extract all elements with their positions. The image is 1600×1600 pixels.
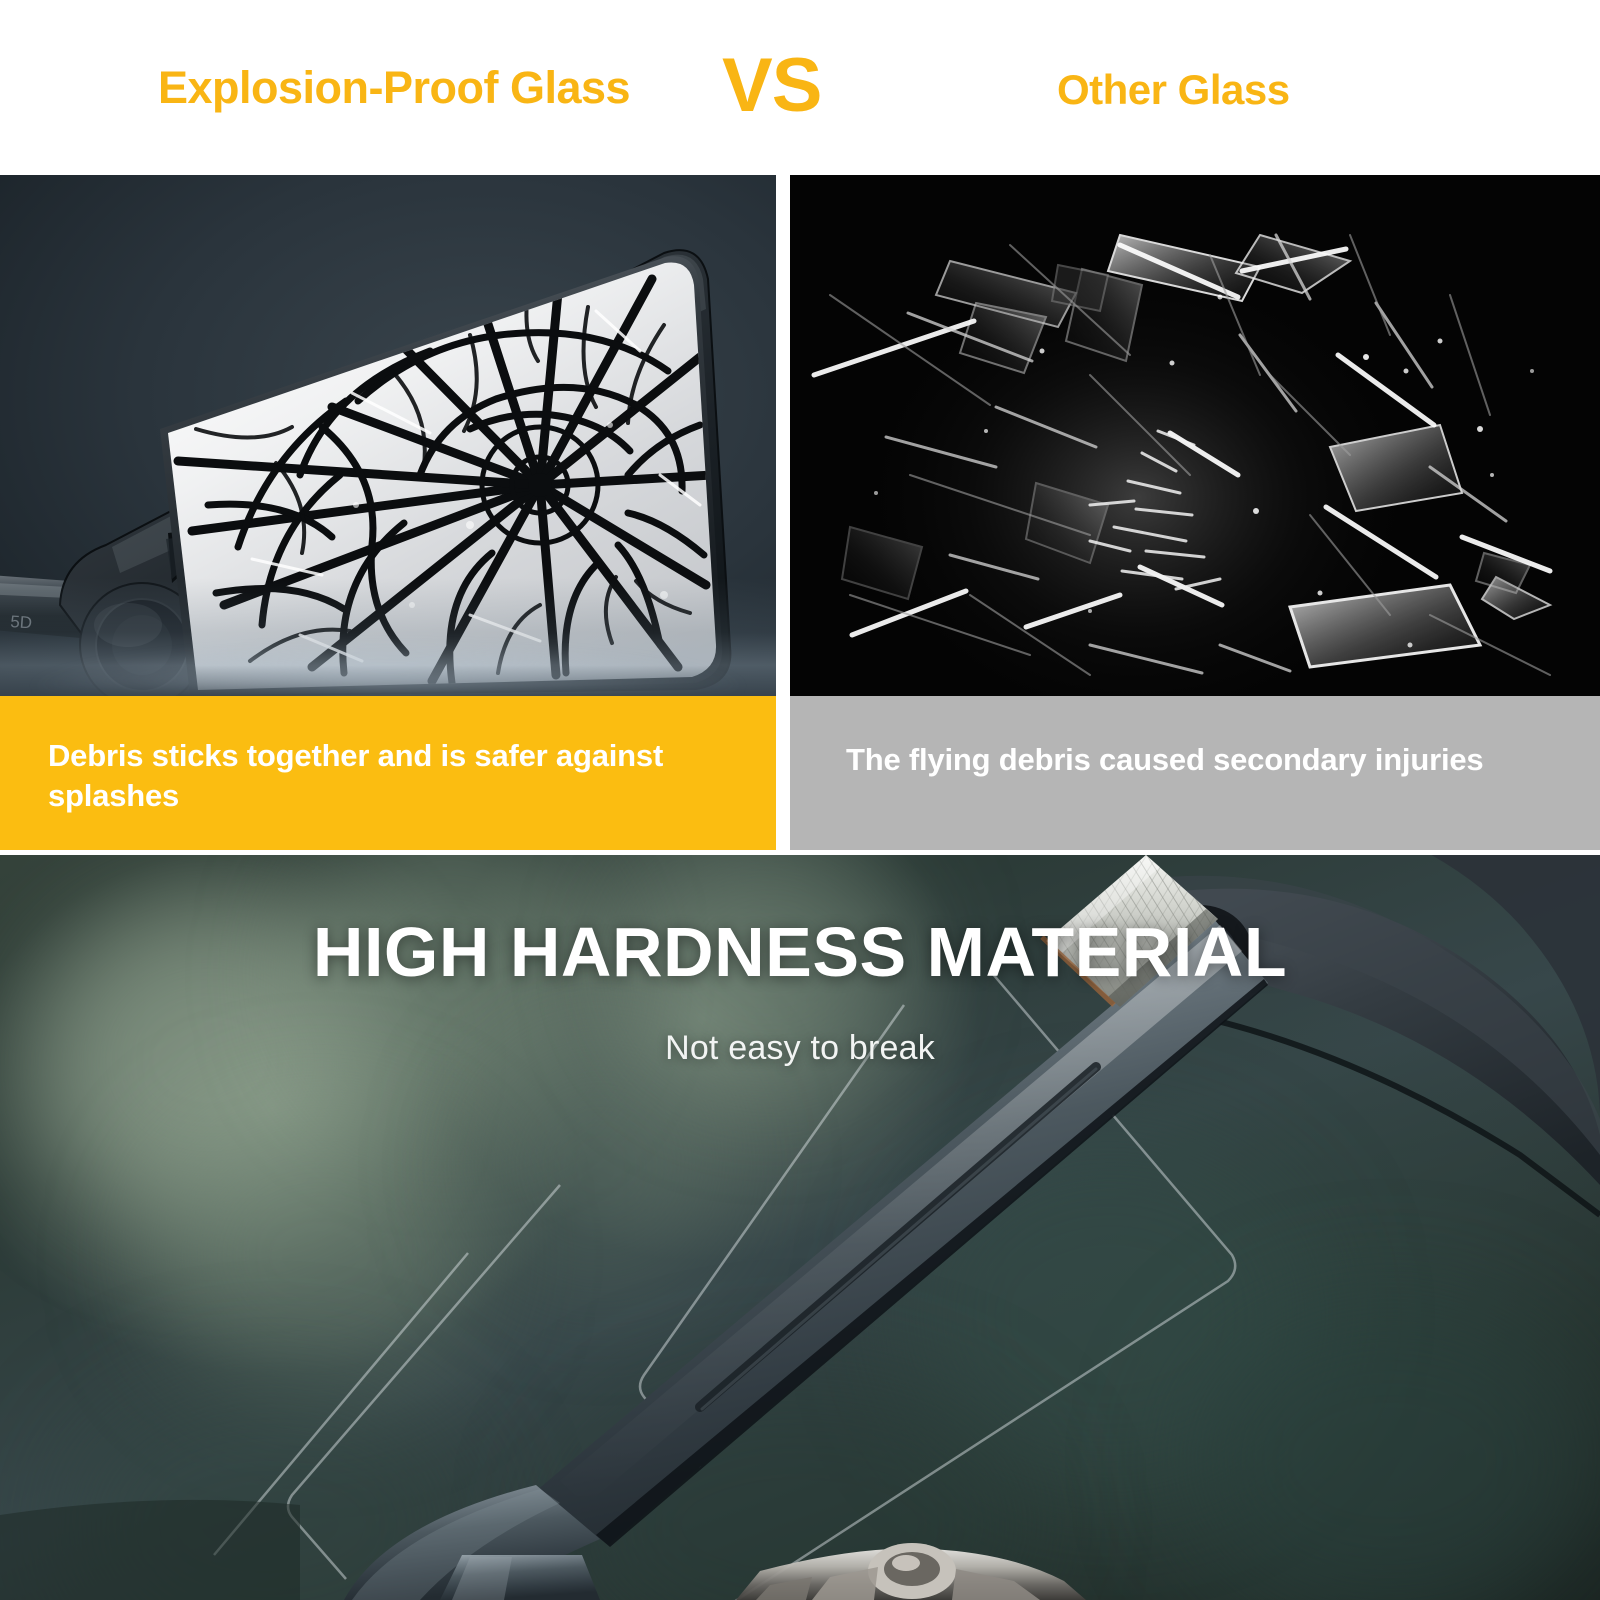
header-right-title: Other Glass xyxy=(1057,66,1290,114)
handlebar-clamp xyxy=(736,1543,1086,1600)
infographic-page: Explosion-Proof Glass VS Other Glass xyxy=(0,0,1600,1600)
mirror-post xyxy=(440,1555,600,1600)
hero-title: HIGH HARDNESS MATERIAL xyxy=(0,917,1600,987)
header-vs-label: VS xyxy=(722,48,821,124)
shattered-glass-photo xyxy=(790,175,1600,696)
floor-glow xyxy=(31,644,745,690)
comparison-row: 5D xyxy=(0,175,1600,850)
mirror-arm xyxy=(536,919,1268,1547)
hero-subtitle: Not easy to break xyxy=(0,1029,1600,1068)
left-caption-text: Debris sticks together and is safer agai… xyxy=(48,736,720,815)
header-left-title: Explosion-Proof Glass xyxy=(158,62,658,114)
comparison-header: Explosion-Proof Glass VS Other Glass xyxy=(0,0,1600,175)
panel-explosion-proof: 5D xyxy=(0,175,776,850)
right-caption-bar: The flying debris caused secondary injur… xyxy=(790,696,1600,850)
cracked-mirror-photo: 5D xyxy=(0,175,776,696)
right-caption-text: The flying debris caused secondary injur… xyxy=(846,740,1566,780)
glass-shards-graphic xyxy=(790,175,1600,696)
hero-section: HIGH HARDNESS MATERIAL Not easy to break xyxy=(0,855,1600,1600)
left-caption-bar: Debris sticks together and is safer agai… xyxy=(0,696,776,850)
panel-other-glass: The flying debris caused secondary injur… xyxy=(790,175,1600,850)
